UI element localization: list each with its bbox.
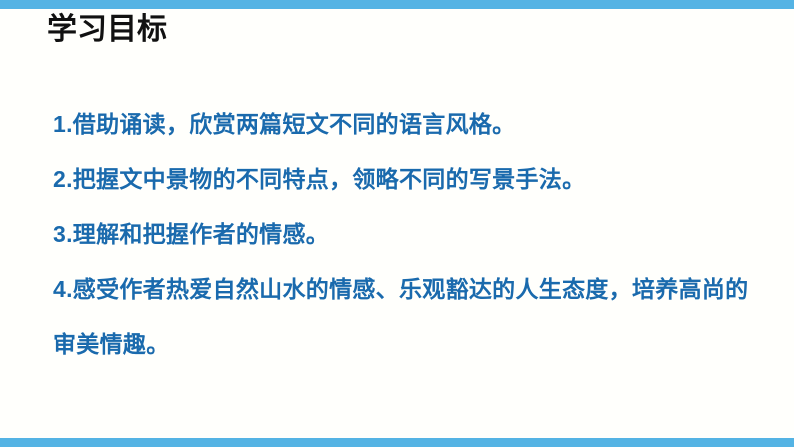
list-item-continuation: 审美情趣。 xyxy=(53,317,765,372)
slide-canvas: 学习目标 1.借助诵读，欣赏两篇短文不同的语言风格。 2.把握文中景物的不同特点… xyxy=(0,0,794,447)
list-item: 4.感受作者热爱自然山水的情感、乐观豁达的人生态度，培养高尚的 xyxy=(53,262,765,317)
list-item: 1.借助诵读，欣赏两篇短文不同的语言风格。 xyxy=(53,97,765,152)
bottom-accent-bar xyxy=(0,438,794,447)
objectives-list: 1.借助诵读，欣赏两篇短文不同的语言风格。 2.把握文中景物的不同特点，领略不同… xyxy=(53,97,765,372)
list-item: 3.理解和把握作者的情感。 xyxy=(53,207,765,262)
list-item: 2.把握文中景物的不同特点，领略不同的写景手法。 xyxy=(53,152,765,207)
top-accent-bar xyxy=(0,0,794,9)
page-title: 学习目标 xyxy=(47,12,167,48)
